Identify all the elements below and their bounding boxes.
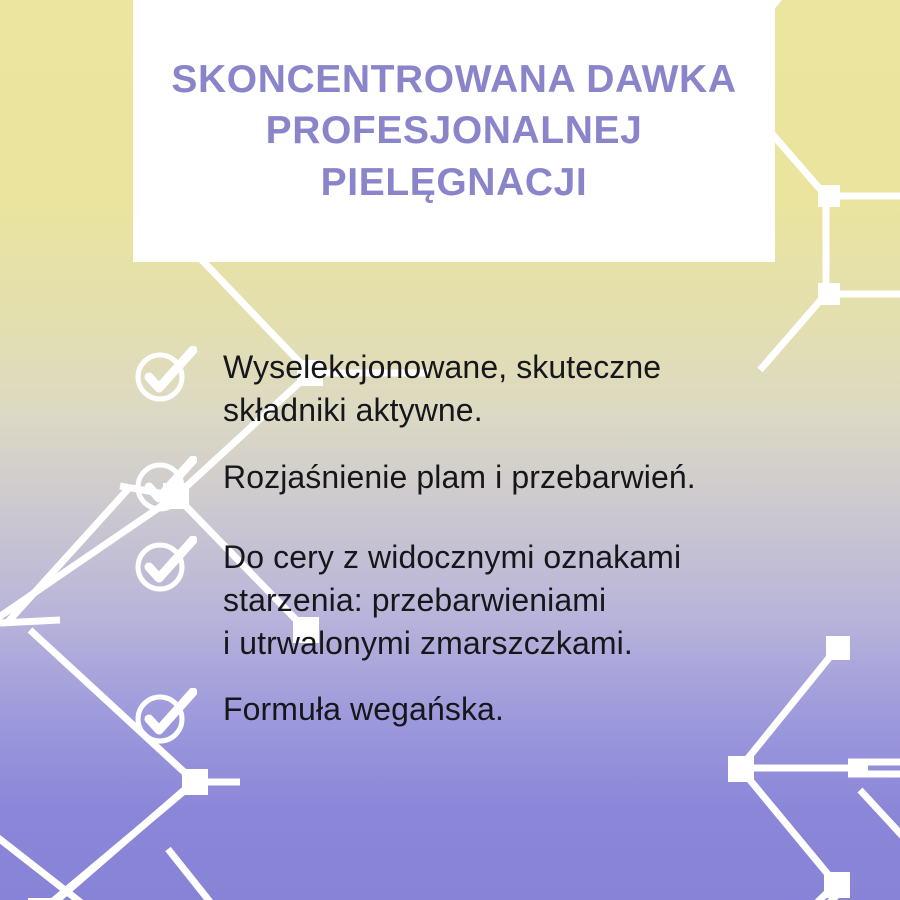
check-circle-icon: [133, 346, 197, 404]
benefit-text: Wyselekcjonowane, skuteczne składniki ak…: [223, 344, 661, 432]
check-circle-icon: [133, 456, 197, 514]
check-circle-icon: [133, 688, 197, 746]
benefit-text: Formuła wegańska.: [223, 686, 504, 731]
promo-poster: SKONCENTROWANA DAWKA PROFESJONALNEJ PIEL…: [0, 0, 900, 900]
page-title: SKONCENTROWANA DAWKA PROFESJONALNEJ PIEL…: [147, 54, 761, 208]
list-item: Formuła wegańska.: [133, 686, 863, 744]
benefit-text: Do cery z widocznymi oznakami starzenia:…: [223, 534, 681, 665]
benefits-list: Wyselekcjonowane, skuteczne składniki ak…: [133, 344, 863, 744]
check-circle-icon: [133, 536, 197, 594]
list-item: Rozjaśnienie plam i przebarwień.: [133, 454, 863, 512]
list-item: Wyselekcjonowane, skuteczne składniki ak…: [133, 344, 863, 432]
benefit-text: Rozjaśnienie plam i przebarwień.: [223, 454, 696, 499]
title-plate: SKONCENTROWANA DAWKA PROFESJONALNEJ PIEL…: [133, 0, 775, 262]
list-item: Do cery z widocznymi oznakami starzenia:…: [133, 534, 863, 665]
